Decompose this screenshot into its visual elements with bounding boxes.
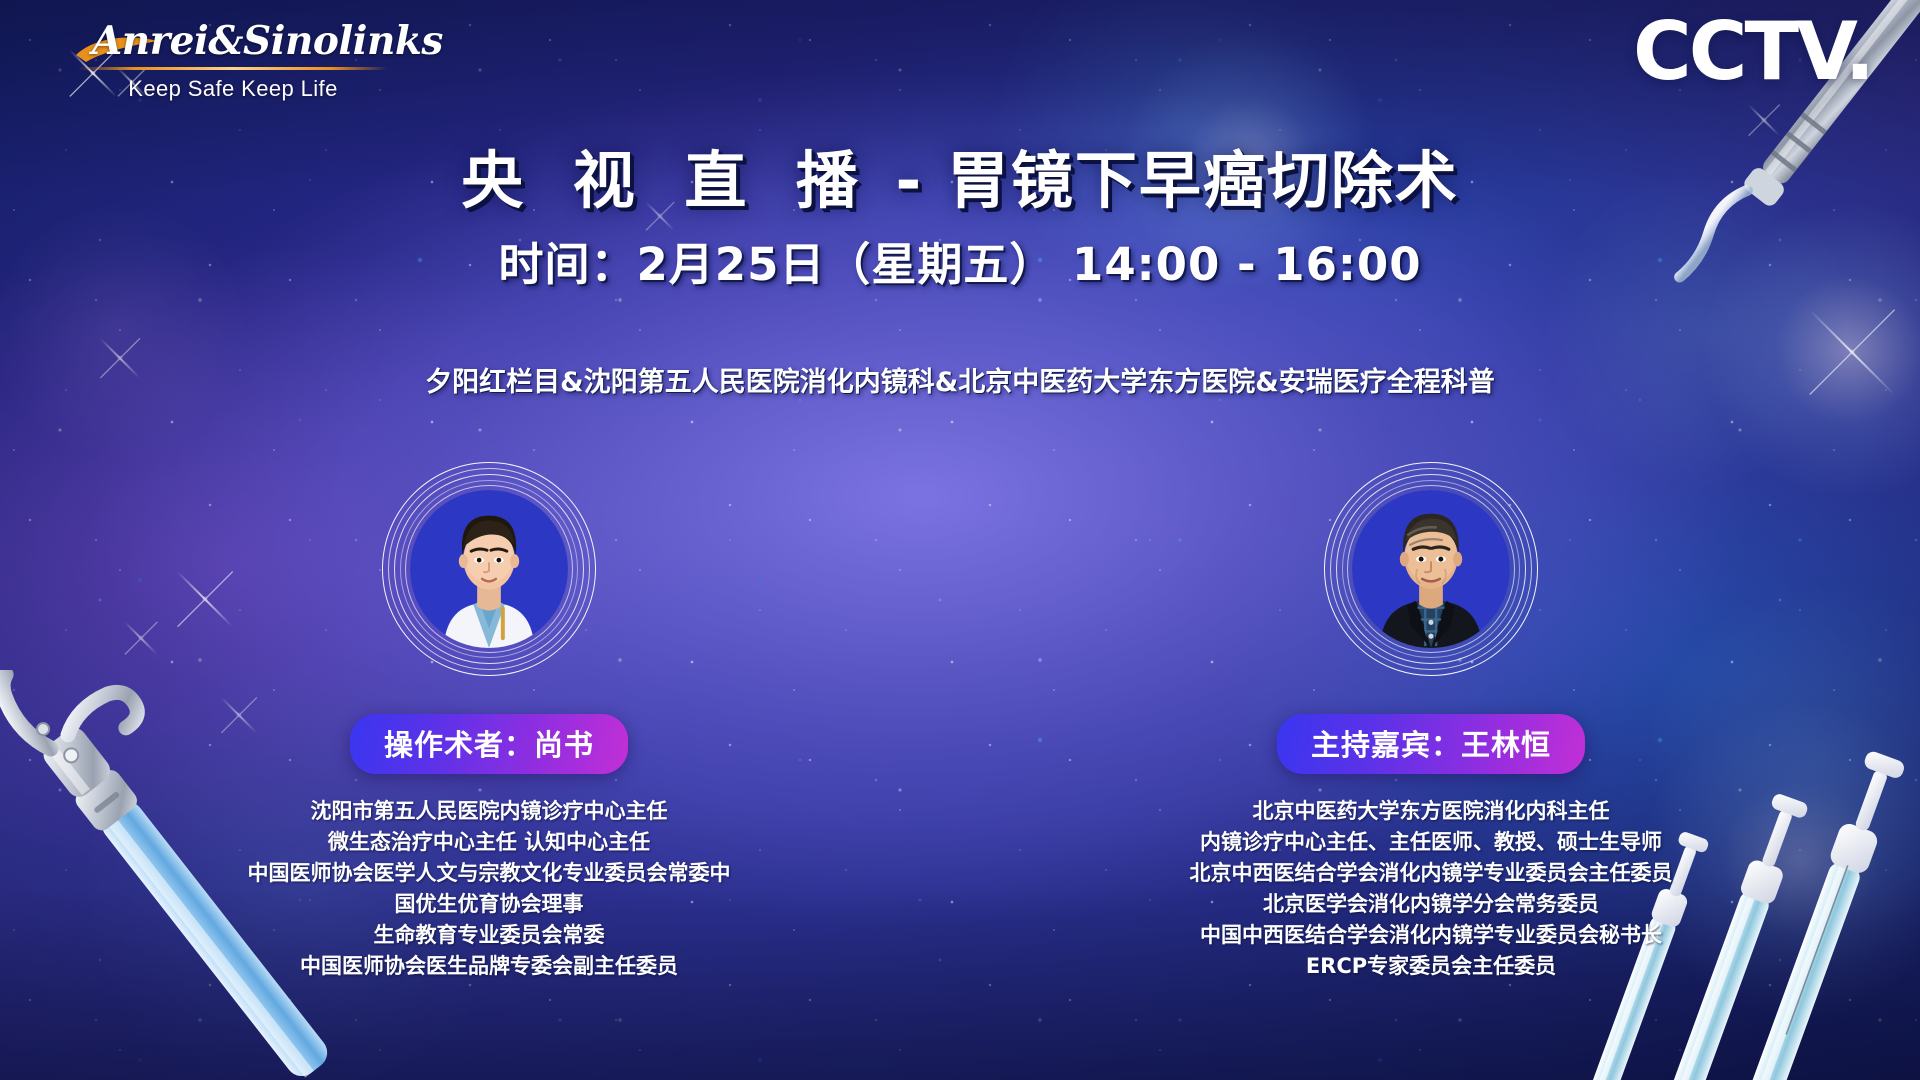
brand-logo: Anrei&Sinolinks Keep Safe Keep Life (78, 22, 388, 102)
organizers-line: 夕阳红栏目&沈阳第五人民医院消化内镜科&北京中医药大学东方医院&安瑞医疗全程科普 (0, 360, 1920, 399)
speaker-avatar-frame (1324, 462, 1538, 676)
portrait-young-doctor-icon (410, 490, 568, 648)
speaker-role-badge: 主持嘉宾：王林恒 (1277, 714, 1585, 774)
speaker-avatar-frame (382, 462, 596, 676)
credential-line: 沈阳市第五人民医院内镜诊疗中心主任 (248, 796, 731, 827)
event-time: 时间：2月25日（星期五） 14:00 - 16:00 (0, 228, 1920, 293)
speakers-row: 操作术者：尚书 沈阳市第五人民医院内镜诊疗中心主任 微生态治疗中心主任 认知中心… (0, 462, 1920, 982)
page-title-rest: 胃镜下早癌切除术 (947, 144, 1459, 217)
credential-line: 生命教育专业委员会常委 (248, 920, 731, 951)
credential-line: 微生态治疗中心主任 认知中心主任 (248, 827, 731, 858)
speaker-photo-shangshu (410, 490, 568, 648)
brand-divider (78, 67, 388, 70)
speaker-credentials: 北京中医药大学东方医院消化内科主任 内镜诊疗中心主任、主任医师、教授、硕士生导师… (1190, 796, 1673, 982)
credential-line: 中国中西医结合学会消化内镜学专业委员会秘书长 (1190, 920, 1673, 951)
speaker-card-operator: 操作术者：尚书 沈阳市第五人民医院内镜诊疗中心主任 微生态治疗中心主任 认知中心… (209, 462, 769, 982)
credential-line: 国优生优育协会理事 (248, 889, 731, 920)
speaker-credentials: 沈阳市第五人民医院内镜诊疗中心主任 微生态治疗中心主任 认知中心主任 中国医师协… (248, 796, 731, 982)
credential-line: 中国医师协会医学人文与宗教文化专业委员会常委中 (248, 858, 731, 889)
credential-line: ERCP专家委员会主任委员 (1190, 951, 1673, 982)
poster-canvas: Anrei&Sinolinks Keep Safe Keep Life CCTV… (0, 0, 1920, 1080)
credential-line: 北京医学会消化内镜学分会常务委员 (1190, 889, 1673, 920)
credential-line: 内镜诊疗中心主任、主任医师、教授、硕士生导师 (1190, 827, 1673, 858)
page-title-main: 央 视 直 播 (461, 144, 872, 217)
credential-line: 北京中西医结合学会消化内镜学专业委员会主任委员 (1190, 858, 1673, 889)
speaker-card-host: 主持嘉宾：王林恒 北京中医药大学东方医院消化内科主任 内镜诊疗中心主任、主任医师… (1151, 462, 1711, 982)
brand-tagline: Keep Safe Keep Life (78, 76, 388, 102)
portrait-senior-doctor-icon (1352, 490, 1510, 648)
page-title: 央 视 直 播 - 胃镜下早癌切除术 (0, 130, 1920, 220)
speaker-role-badge: 操作术者：尚书 (350, 714, 628, 774)
credential-line: 中国医师协会医生品牌专委会副主任委员 (248, 951, 731, 982)
credential-line: 北京中医药大学东方医院消化内科主任 (1190, 796, 1673, 827)
cctv-logo: CCTV. (1633, 12, 1872, 92)
page-title-separator: - (872, 144, 947, 217)
brand-name: Anrei&Sinolinks (78, 22, 388, 61)
speaker-photo-wanglinheng (1352, 490, 1510, 648)
